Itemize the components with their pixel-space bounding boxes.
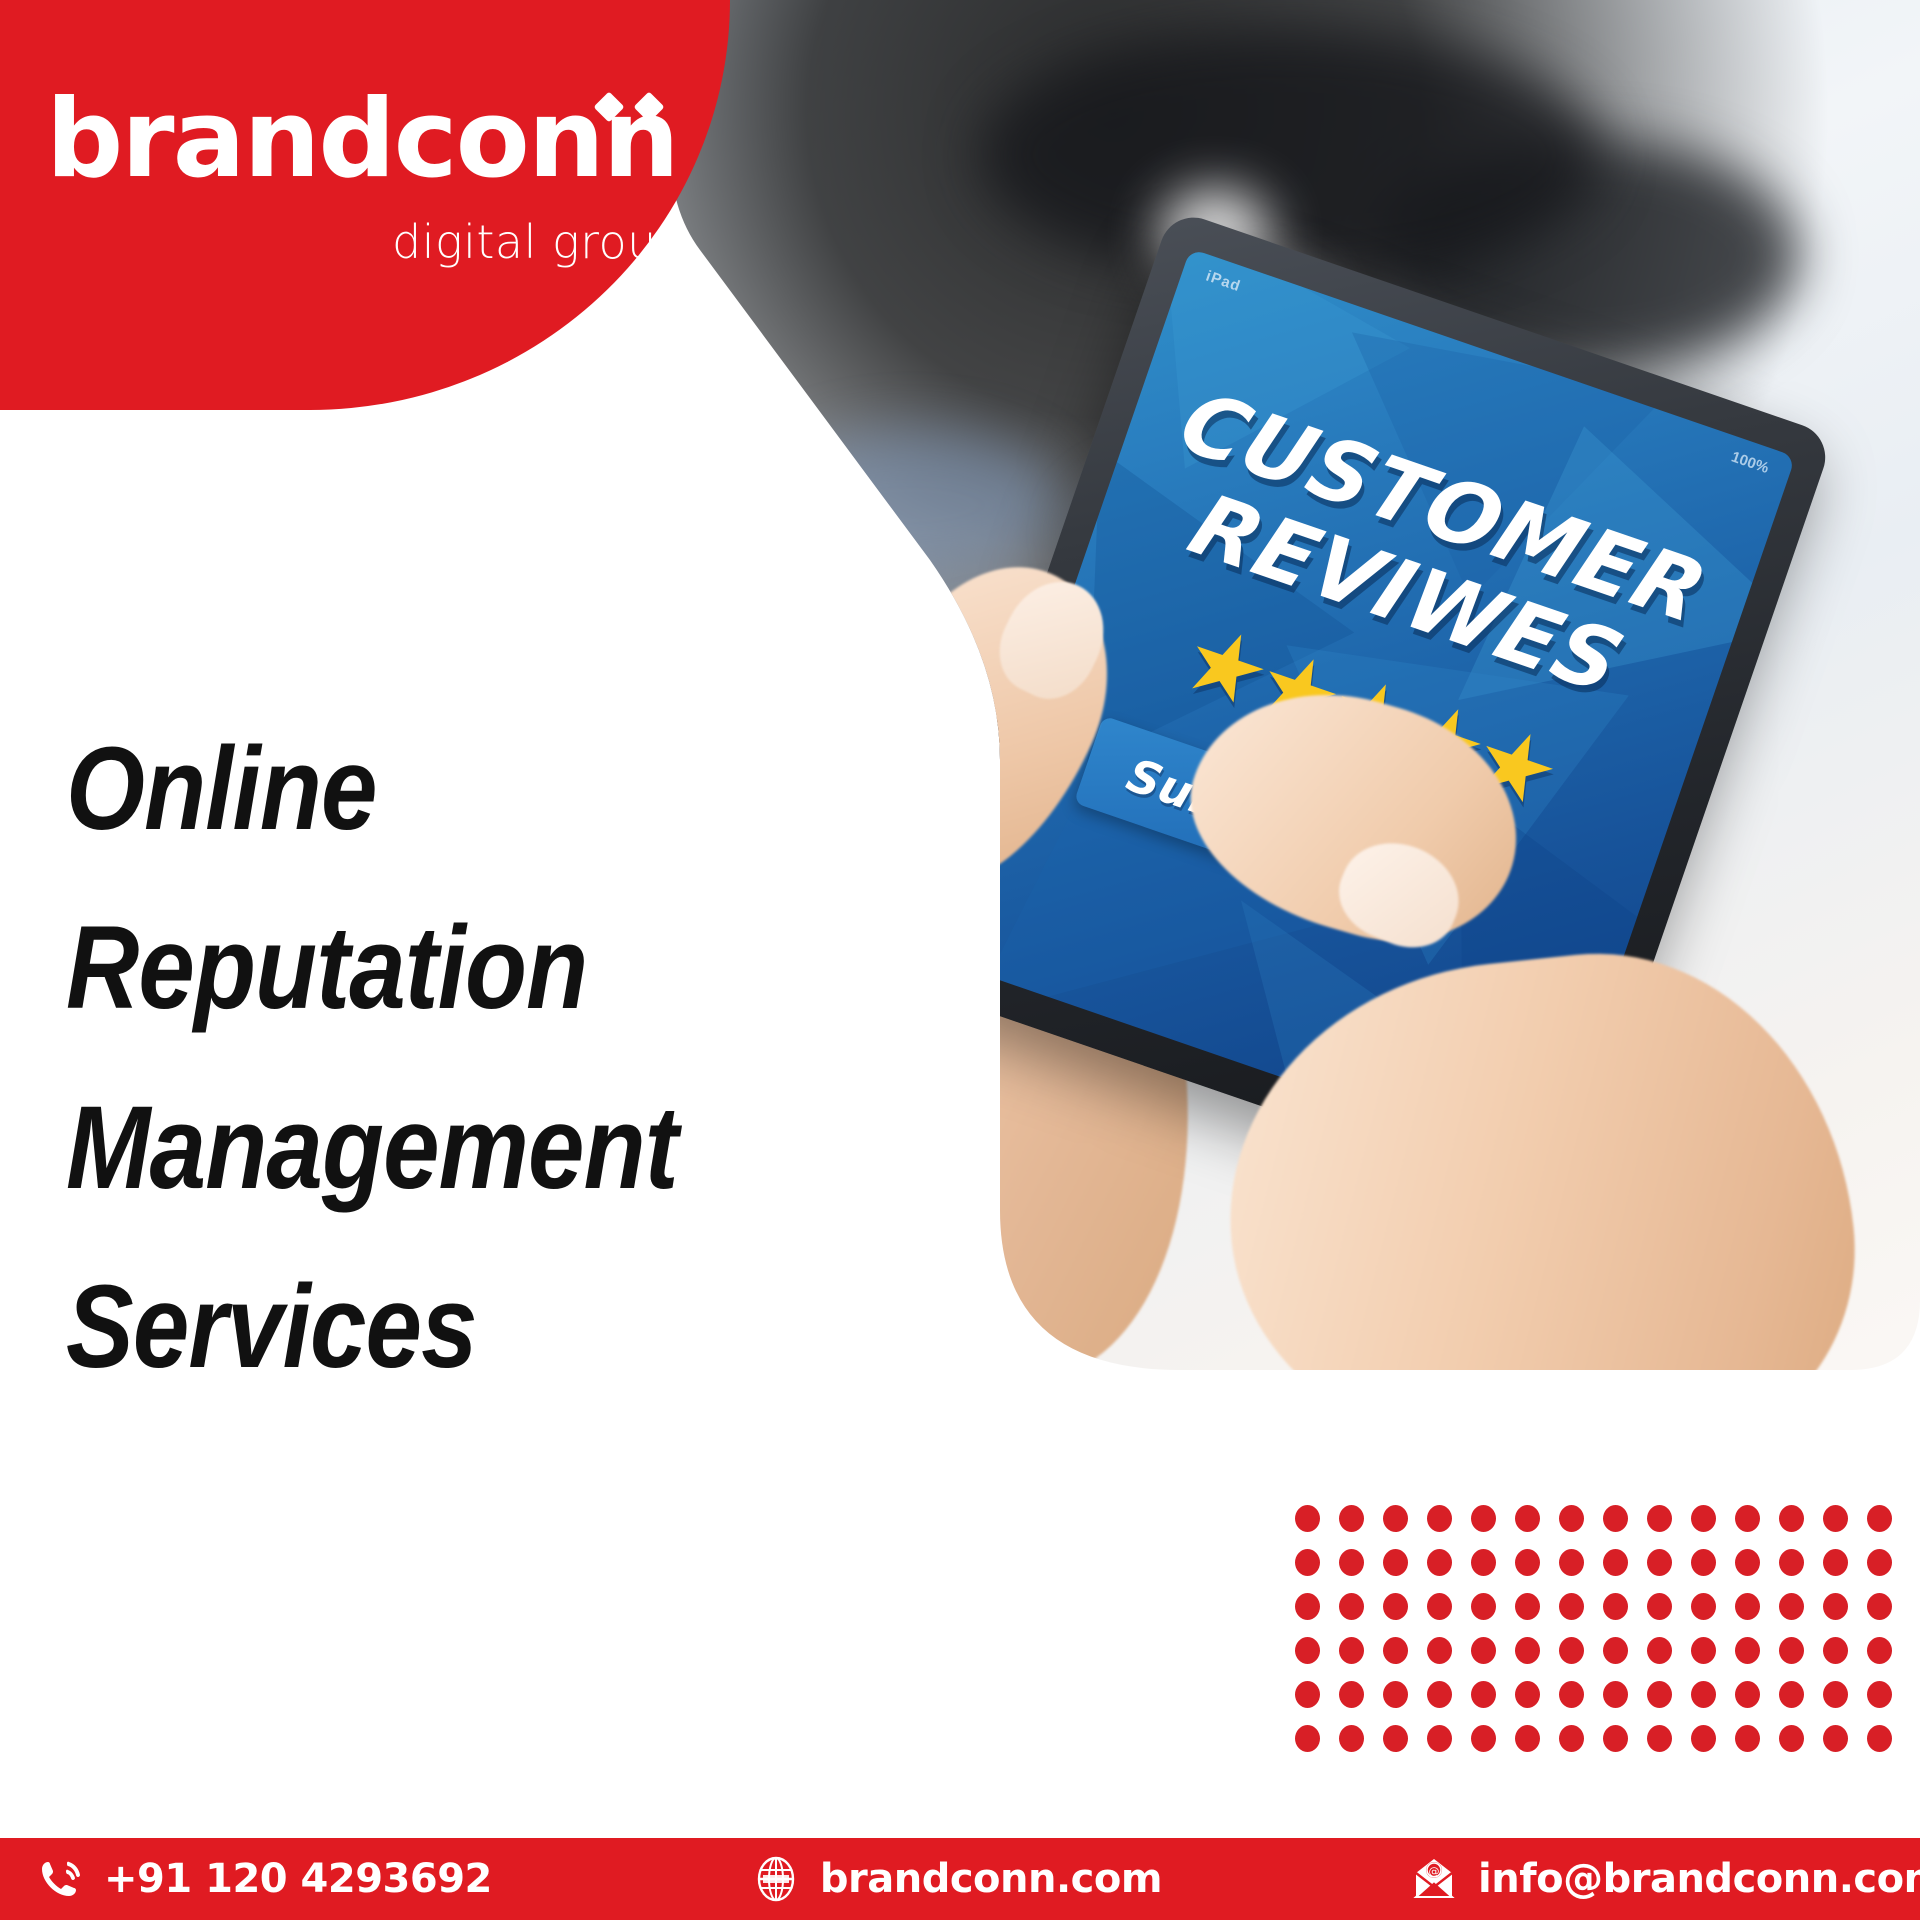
headline-line: Services — [66, 1238, 857, 1417]
brand-tagline: digital group — [392, 215, 687, 269]
dot-grid-dot — [1691, 1637, 1716, 1664]
dot-grid-dot — [1295, 1593, 1320, 1620]
footer-phone-label: +91 120 4293692 — [104, 1856, 492, 1902]
dot-grid-dot — [1867, 1725, 1892, 1752]
footer-phone[interactable]: +91 120 4293692 — [34, 1853, 492, 1905]
dot-grid-dot — [1515, 1549, 1540, 1576]
dot-grid-dot — [1339, 1725, 1364, 1752]
dot-grid-dot — [1691, 1505, 1716, 1532]
dot-grid-dot — [1295, 1549, 1320, 1576]
dot-grid-dot — [1427, 1681, 1452, 1708]
dot-grid-dot — [1691, 1549, 1716, 1576]
headline-line: Reputation — [66, 879, 857, 1058]
dot-grid-dot — [1735, 1593, 1760, 1620]
dot-grid-dot — [1471, 1549, 1496, 1576]
dot-grid-dot — [1647, 1549, 1672, 1576]
dot-grid-dot — [1735, 1505, 1760, 1532]
dot-grid-dot — [1471, 1725, 1496, 1752]
dot-grid-dot — [1383, 1549, 1408, 1576]
dot-grid-dot — [1339, 1681, 1364, 1708]
dot-grid-dot — [1603, 1725, 1628, 1752]
dot-grid-dot — [1823, 1637, 1848, 1664]
dot-grid-dot — [1515, 1637, 1540, 1664]
dot-grid-dot — [1515, 1593, 1540, 1620]
dot-grid-dot — [1471, 1505, 1496, 1532]
dot-grid-dot — [1383, 1505, 1408, 1532]
dot-grid-dot — [1471, 1593, 1496, 1620]
dot-grid-dot — [1823, 1725, 1848, 1752]
dot-grid-dot — [1779, 1593, 1804, 1620]
dot-grid-dot — [1383, 1725, 1408, 1752]
dot-grid-dot — [1559, 1681, 1584, 1708]
footer-website-label: brandconn.com — [820, 1856, 1162, 1902]
dot-grid-dot — [1867, 1593, 1892, 1620]
dot-grid-dot — [1559, 1593, 1584, 1620]
dot-grid-dot — [1823, 1505, 1848, 1532]
dot-grid-dot — [1647, 1725, 1672, 1752]
dot-grid-dot — [1559, 1505, 1584, 1532]
dot-grid-dot — [1735, 1681, 1760, 1708]
dot-grid-dot — [1339, 1505, 1364, 1532]
dot-grid-dot — [1559, 1725, 1584, 1752]
dot-grid-dot — [1647, 1637, 1672, 1664]
poster-canvas: iPad 100% CUSTOMER REVIWES ★★★★★ Submit … — [0, 0, 1920, 1920]
logo-diaeresis-icon — [598, 96, 668, 126]
dot-grid-dot — [1735, 1549, 1760, 1576]
dot-grid-dot — [1295, 1681, 1320, 1708]
dot-grid-dot — [1427, 1637, 1452, 1664]
dot-grid-dot — [1603, 1505, 1628, 1532]
dot-grid-dot — [1339, 1549, 1364, 1576]
tablet-status-right: 100% — [1729, 448, 1771, 477]
envelope-icon: @ — [1408, 1853, 1460, 1905]
dot-grid-dot — [1515, 1505, 1540, 1532]
dot-grid-dot — [1471, 1637, 1496, 1664]
dot-grid-dot — [1823, 1549, 1848, 1576]
dot-grid-dot — [1427, 1593, 1452, 1620]
svg-text:@: @ — [1429, 1865, 1440, 1878]
phone-icon — [34, 1853, 86, 1905]
dot-grid-dot — [1603, 1549, 1628, 1576]
headline-line: Management — [66, 1059, 857, 1238]
dot-grid-dot — [1691, 1681, 1716, 1708]
footer-email-label: info@brandconn.com — [1478, 1856, 1920, 1902]
dot-grid-dot — [1427, 1549, 1452, 1576]
dot-grid-dot — [1383, 1681, 1408, 1708]
dot-grid-dot — [1647, 1505, 1672, 1532]
photo-blur-blob — [980, 30, 1600, 280]
dot-grid-dot — [1867, 1549, 1892, 1576]
dot-grid-dot — [1779, 1681, 1804, 1708]
dot-grid-dot — [1779, 1637, 1804, 1664]
footer-website[interactable]: brandconn.com — [750, 1853, 1162, 1905]
dot-grid-decoration — [1295, 1505, 1911, 1769]
dot-grid-dot — [1427, 1725, 1452, 1752]
dot-grid-dot — [1779, 1725, 1804, 1752]
dot-grid-dot — [1779, 1549, 1804, 1576]
dot-grid-dot — [1515, 1681, 1540, 1708]
headline-line: Online — [66, 700, 857, 879]
dot-grid-dot — [1383, 1637, 1408, 1664]
dot-grid-dot — [1295, 1505, 1320, 1532]
page-title: Online Reputation Management Services — [66, 700, 857, 1417]
footer-email[interactable]: @ info@brandconn.com — [1408, 1853, 1920, 1905]
dot-grid-dot — [1647, 1681, 1672, 1708]
dot-grid-dot — [1867, 1681, 1892, 1708]
dot-grid-dot — [1779, 1505, 1804, 1532]
dot-grid-dot — [1295, 1725, 1320, 1752]
dot-grid-dot — [1823, 1681, 1848, 1708]
dot-grid-dot — [1823, 1593, 1848, 1620]
dot-grid-dot — [1295, 1637, 1320, 1664]
brand-wordmark: brandconn — [46, 86, 678, 194]
dot-grid-dot — [1471, 1681, 1496, 1708]
logo-panel: brandconn digital group — [0, 0, 730, 410]
dot-grid-dot — [1603, 1593, 1628, 1620]
dot-grid-dot — [1603, 1681, 1628, 1708]
dot-grid-dot — [1339, 1637, 1364, 1664]
dot-grid-dot — [1691, 1593, 1716, 1620]
dot-grid-dot — [1735, 1725, 1760, 1752]
dot-grid-dot — [1559, 1637, 1584, 1664]
dot-grid-dot — [1647, 1593, 1672, 1620]
globe-icon — [750, 1853, 802, 1905]
contact-footer: +91 120 4293692 brandconn.com — [0, 1838, 1920, 1920]
dot-grid-dot — [1735, 1637, 1760, 1664]
dot-grid-dot — [1515, 1725, 1540, 1752]
dot-grid-dot — [1383, 1593, 1408, 1620]
dot-grid-dot — [1339, 1593, 1364, 1620]
dot-grid-dot — [1427, 1505, 1452, 1532]
dot-grid-dot — [1867, 1505, 1892, 1532]
dot-grid-dot — [1603, 1637, 1628, 1664]
photo-blur-blob — [760, 430, 1060, 580]
dot-grid-dot — [1559, 1549, 1584, 1576]
dot-grid-dot — [1691, 1725, 1716, 1752]
dot-grid-dot — [1867, 1637, 1892, 1664]
